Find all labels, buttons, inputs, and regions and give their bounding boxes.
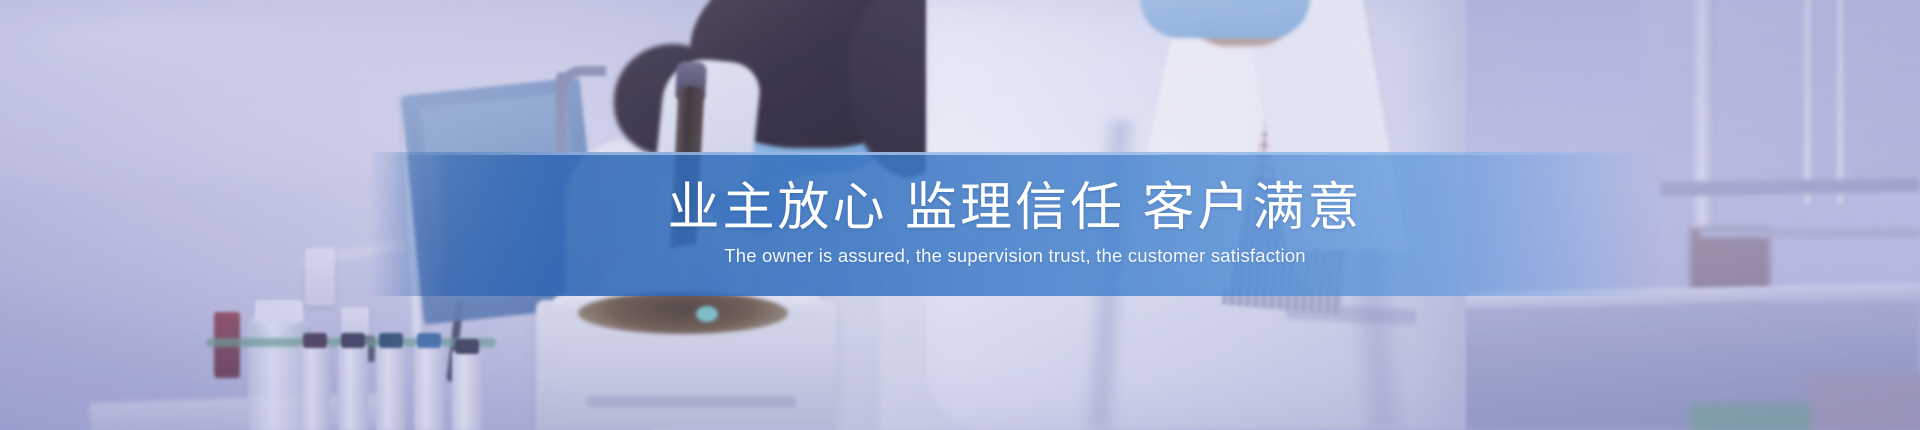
subheadline-english: The owner is assured, the supervision tr… xyxy=(724,245,1306,267)
caption-text-group: 业主放心 监理信任 客户满意 The owner is assured, the… xyxy=(370,152,1660,296)
headline-chinese: 业主放心 监理信任 客户满意 xyxy=(668,181,1363,236)
lab-hero-banner: 业主放心 监理信任 客户满意 The owner is assured, the… xyxy=(0,0,1920,430)
